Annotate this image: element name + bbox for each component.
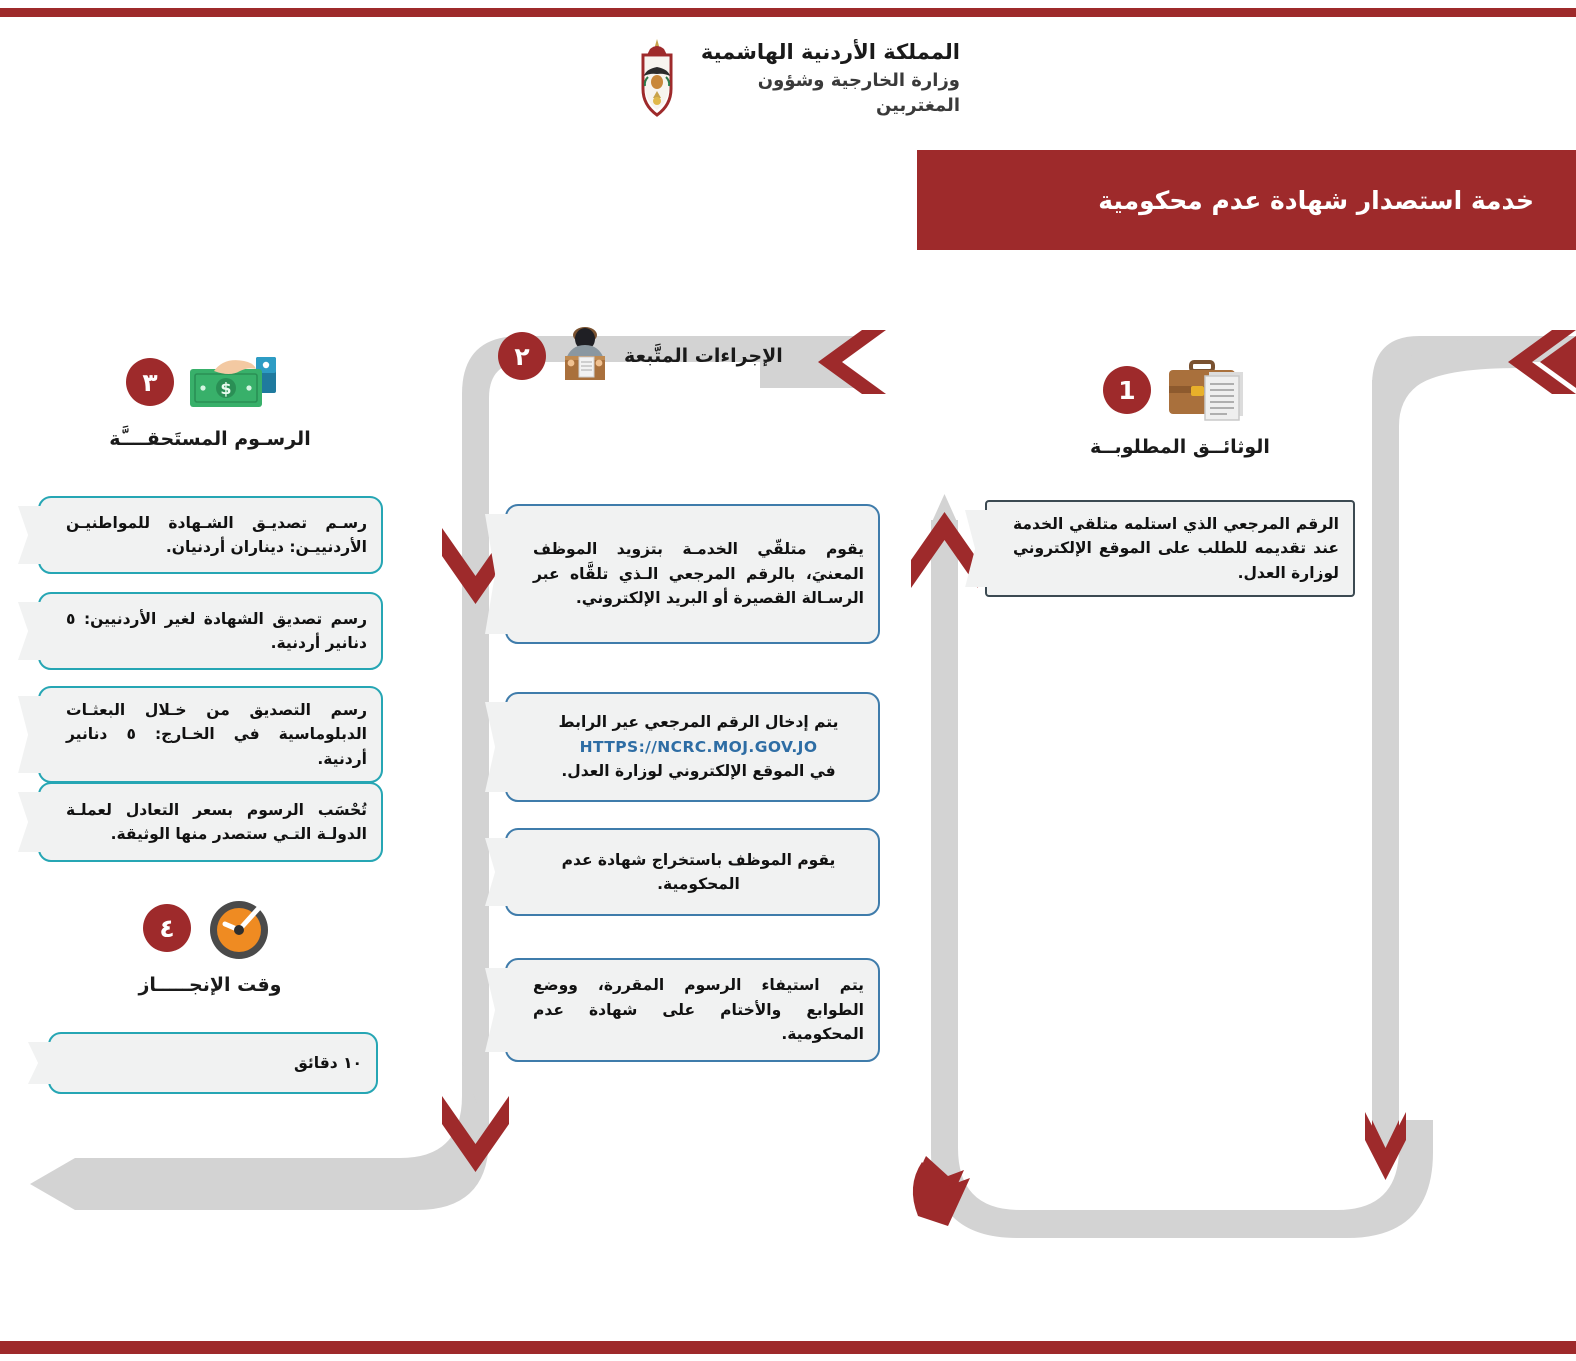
step-2-item-3-text: يقوم الموظف باستخراج شهادة عدم المحكومية… bbox=[507, 838, 878, 907]
step-3-label: الرسـوم المستَحقــــَّة bbox=[60, 428, 360, 450]
briefcase-documents-icon bbox=[1161, 356, 1257, 424]
step-2-item-2-line1: يتم إدخال الرقم المرجعي عير الرابط bbox=[559, 713, 839, 731]
svg-text:$: $ bbox=[220, 379, 231, 398]
step-1-label: الوثائــق المطلوبــة bbox=[1030, 436, 1330, 458]
step-3-item-2-text: رسم تصديق الشهادة لغير الأردنيين: ٥ دنان… bbox=[40, 597, 381, 666]
top-red-rule bbox=[0, 8, 1576, 17]
callout-notch bbox=[28, 1042, 52, 1084]
callout-notch bbox=[18, 696, 42, 773]
step-2-label: الإجراءات المتَّبعة bbox=[624, 345, 783, 367]
callout-notch bbox=[485, 514, 509, 634]
step-2-item-4-text: يتم استيفاء الرسوم المقررة، ووضع الطوابع… bbox=[507, 963, 878, 1056]
callout-notch bbox=[485, 702, 509, 792]
bottom-red-rule bbox=[0, 1341, 1576, 1354]
step-1-badge: 1 bbox=[1103, 366, 1151, 414]
step-2-badge: ٢ bbox=[498, 332, 546, 380]
step-2-item-2: يتم إدخال الرقم المرجعي عير الرابط HTTPS… bbox=[505, 692, 880, 802]
ministry-name-line1: المملكة الأردنية الهاشمية bbox=[694, 38, 960, 66]
step-2-item-1-text: يقوم متلقّي الخدمـة بتزويد الموظف المعني… bbox=[507, 527, 878, 620]
step-3-item-3-text: رسم التصديق من خـلال البعثـات الدبلوماسي… bbox=[40, 688, 381, 781]
step-3-head: ٣ $ الرسـوم المستَحقــــَّة bbox=[60, 344, 360, 450]
moj-url-link[interactable]: HTTPS://NCRC.MOJ.GOV.JO bbox=[580, 735, 818, 759]
step-1-item-1: الرقم المرجعي الذي استلمه متلقي الخدمة ع… bbox=[985, 500, 1355, 597]
infographic-page: المملكة الأردنية الهاشمية وزارة الخارجية… bbox=[0, 0, 1576, 1361]
page-title-banner: خدمة استصدار شهادة عدم محكومية bbox=[917, 150, 1576, 250]
ministry-name-line2: وزارة الخارجية وشؤون المغتربين bbox=[694, 69, 960, 118]
step-4-head: ٤ وقت الإنجـــــاز bbox=[60, 890, 360, 996]
callout-notch bbox=[18, 506, 42, 564]
step-4-badge: ٤ bbox=[143, 904, 191, 952]
clerk-desk-icon bbox=[554, 325, 616, 387]
step-2-item-2-line3: في الموقع الإلكتروني لوزارة العدل. bbox=[561, 762, 835, 780]
cash-hand-icon: $ bbox=[184, 351, 294, 413]
step-3-item-4-text: تُحْسَب الرسوم بسعر التعادل لعملـة الدول… bbox=[40, 788, 381, 857]
step-3-item-3: رسم التصديق من خـلال البعثـات الدبلوماسي… bbox=[38, 686, 383, 783]
callout-notch bbox=[18, 792, 42, 852]
step-3-item-1: رسـم تصديـق الشـهادة للمواطنيـن الأردنيي… bbox=[38, 496, 383, 574]
step-3-item-2: رسم تصديق الشهادة لغير الأردنيين: ٥ دنان… bbox=[38, 592, 383, 670]
step-3-badge: ٣ bbox=[126, 358, 174, 406]
jordan-coat-of-arms-icon bbox=[630, 37, 684, 119]
step-4-label: وقت الإنجـــــاز bbox=[60, 974, 360, 996]
callout-notch bbox=[485, 968, 509, 1052]
step-1-item-1-text: الرقم المرجعي الذي استلمه متلقي الخدمة ع… bbox=[987, 502, 1353, 595]
step-3-item-1-text: رسـم تصديـق الشـهادة للمواطنيـن الأردنيي… bbox=[40, 501, 381, 570]
page-title: خدمة استصدار شهادة عدم محكومية bbox=[1098, 186, 1534, 215]
step-2-item-2-text: يتم إدخال الرقم المرجعي عير الرابط HTTPS… bbox=[507, 700, 878, 793]
callout-notch bbox=[965, 510, 989, 587]
step-3-item-4: تُحْسَب الرسوم بسعر التعادل لعملـة الدول… bbox=[38, 782, 383, 862]
stopwatch-icon bbox=[201, 892, 277, 964]
ministry-header: المملكة الأردنية الهاشمية وزارة الخارجية… bbox=[630, 38, 960, 118]
callout-notch bbox=[18, 602, 42, 660]
step-2-item-4: يتم استيفاء الرسوم المقررة، ووضع الطوابع… bbox=[505, 958, 880, 1062]
step-2-item-1: يقوم متلقّي الخدمـة بتزويد الموظف المعني… bbox=[505, 504, 880, 644]
callout-notch bbox=[485, 838, 509, 906]
step-4-item-1-text: ١٠ دقائق bbox=[50, 1041, 376, 1085]
step-1-head: 1 bbox=[1030, 352, 1330, 458]
step-2-item-3: يقوم الموظف باستخراج شهادة عدم المحكومية… bbox=[505, 828, 880, 916]
step-4-item-1: ١٠ دقائق bbox=[48, 1032, 378, 1094]
step-2-head: ٢ الإجراءات المتَّبعة bbox=[498, 330, 818, 382]
